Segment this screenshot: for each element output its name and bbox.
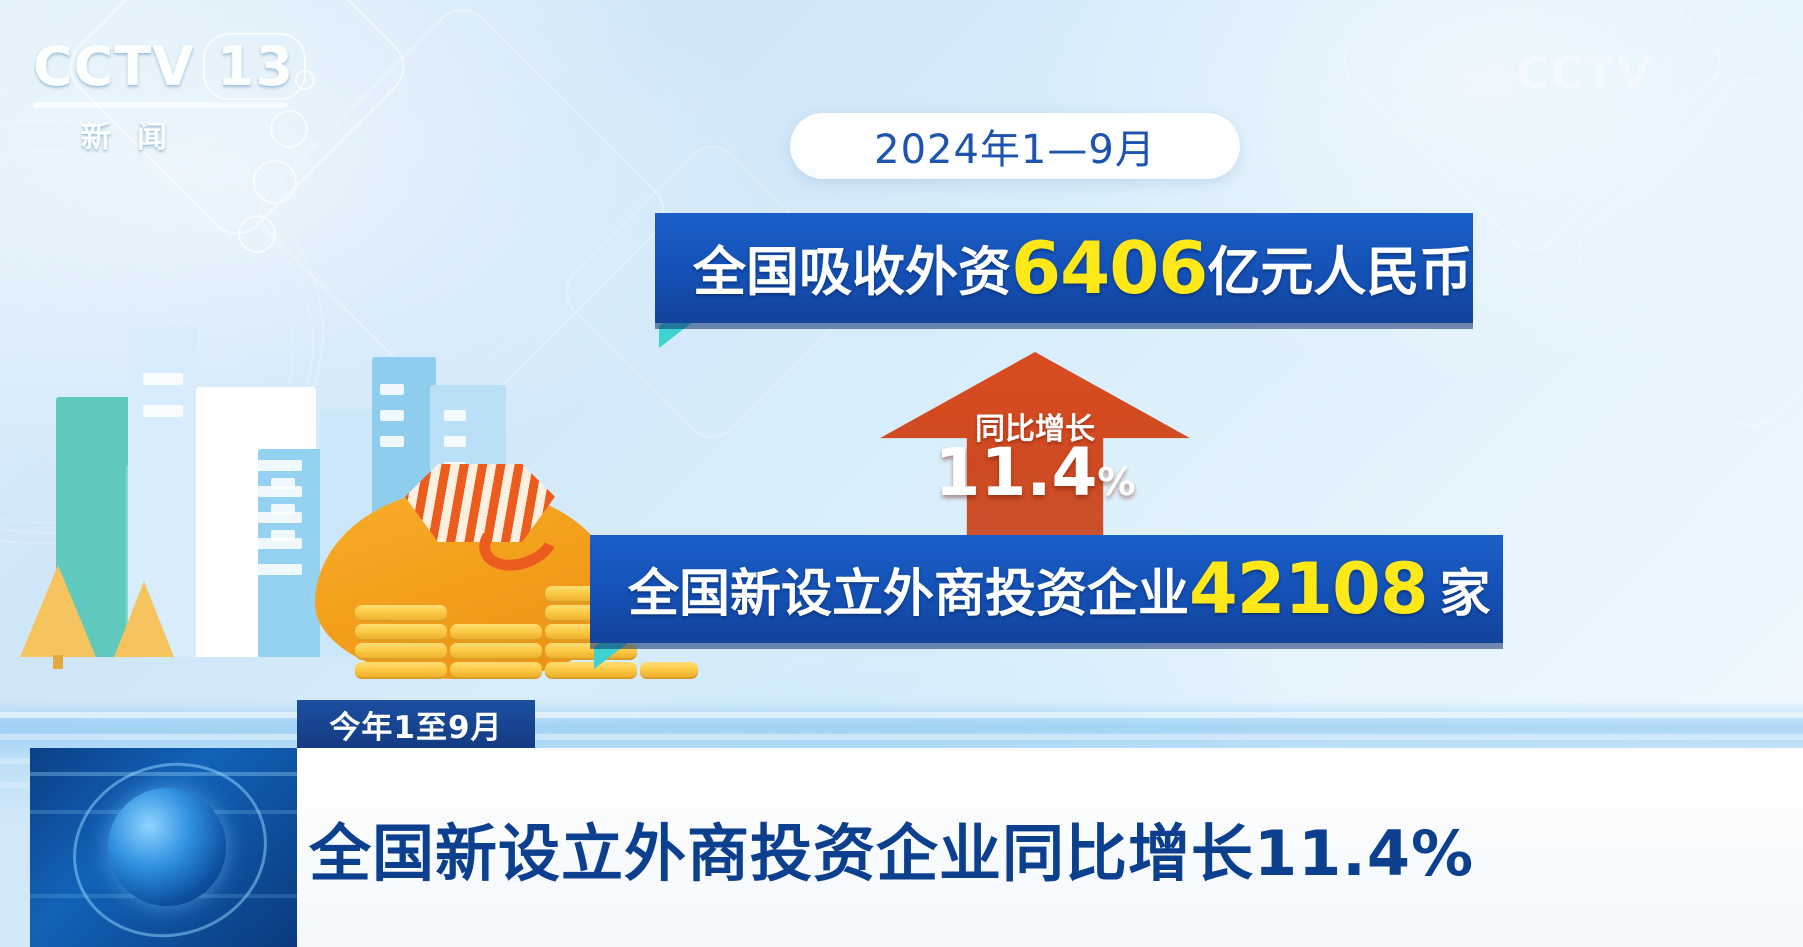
lower-third-kicker-label: 今年1至9月 bbox=[329, 702, 502, 747]
building-window bbox=[271, 530, 295, 541]
stat-row-fdi-amount: 全国吸收外资 6406 亿元人民币 bbox=[655, 213, 1473, 323]
building-window bbox=[444, 410, 466, 421]
growth-value: 11.4 bbox=[935, 434, 1098, 511]
building-window bbox=[271, 478, 295, 489]
building-window bbox=[380, 436, 404, 447]
stat-row-new-enterprises: 全国新设立外商投资企业 42108 家 bbox=[590, 535, 1503, 643]
tree-icon bbox=[114, 581, 174, 657]
logo-mark-text: CCTV bbox=[33, 35, 195, 98]
tree-trunk bbox=[53, 655, 63, 669]
cctv13-logo: CCTV 13 新闻 bbox=[33, 33, 288, 143]
lower-third-thumbnail bbox=[30, 748, 297, 947]
building-window bbox=[380, 410, 404, 421]
logo-divider bbox=[33, 102, 288, 108]
channel-watermark: CCTV bbox=[1516, 48, 1653, 99]
date-pill: 2024年1—9月 bbox=[790, 113, 1240, 179]
coin-stack bbox=[355, 603, 447, 679]
coin-stack bbox=[450, 622, 542, 679]
stat-bar-new-enterprises: 全国新设立外商投资企业 42108 家 bbox=[590, 535, 1503, 643]
logo-cn-text: 新闻 bbox=[33, 112, 288, 156]
stat-value: 6406 bbox=[1011, 226, 1207, 310]
stat-label: 全国吸收外资 bbox=[693, 230, 1011, 306]
growth-symbol: % bbox=[1097, 460, 1135, 504]
lower-third-headline-bar: 全国新设立外商投资企业同比增长11.4% bbox=[297, 748, 1803, 947]
building-window bbox=[444, 436, 466, 447]
tree-icon bbox=[20, 565, 96, 657]
building-window bbox=[380, 384, 404, 395]
stat-value: 42108 bbox=[1189, 548, 1428, 630]
logo-number: 13 bbox=[203, 33, 306, 100]
growth-up-arrow-icon: 同比增长 11.4% bbox=[880, 352, 1190, 557]
growth-value-group: 11.4% bbox=[880, 440, 1190, 506]
stat-unit: 家 bbox=[1440, 552, 1491, 626]
globe-icon bbox=[108, 788, 226, 906]
lower-third-headline: 全国新设立外商投资企业同比增长11.4% bbox=[309, 803, 1474, 893]
building-window bbox=[143, 405, 183, 417]
stat-label: 全国新设立外商投资企业 bbox=[628, 552, 1189, 626]
lower-third-kicker: 今年1至9月 bbox=[297, 700, 535, 748]
broadcast-graphic-frame: CCTV 13 新闻 CCTV bbox=[0, 0, 1803, 947]
stat-unit: 亿元人民币 bbox=[1207, 230, 1472, 306]
building-window bbox=[206, 434, 302, 445]
building-window bbox=[143, 373, 183, 385]
stat-bar-fdi-amount: 全国吸收外资 6406 亿元人民币 bbox=[655, 213, 1473, 323]
building-window bbox=[206, 460, 302, 471]
building-window bbox=[206, 564, 302, 575]
building-window bbox=[271, 504, 295, 515]
date-pill-label: 2024年1—9月 bbox=[874, 117, 1156, 175]
